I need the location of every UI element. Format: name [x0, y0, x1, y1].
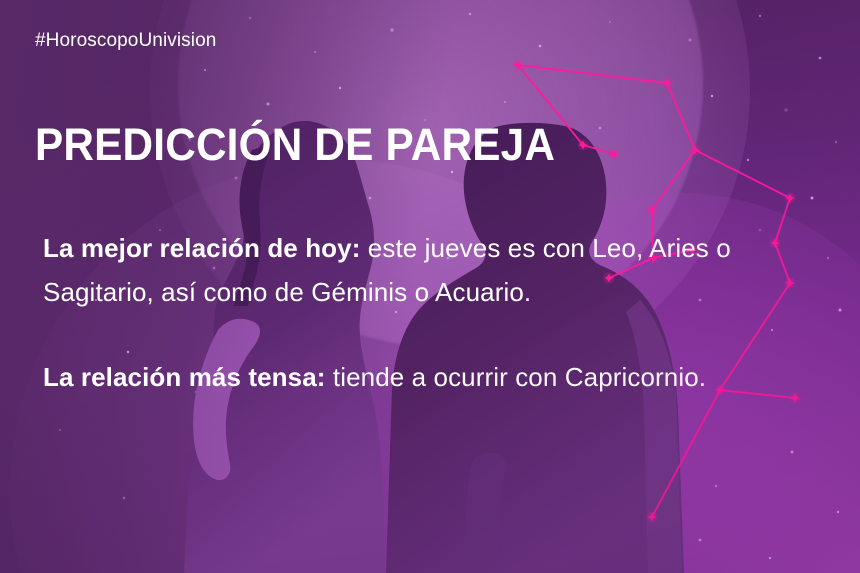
vignette-overlay	[0, 0, 860, 573]
horoscope-card: #HoroscopoUnivision PREDICCIÓN DE PAREJA…	[0, 0, 860, 573]
